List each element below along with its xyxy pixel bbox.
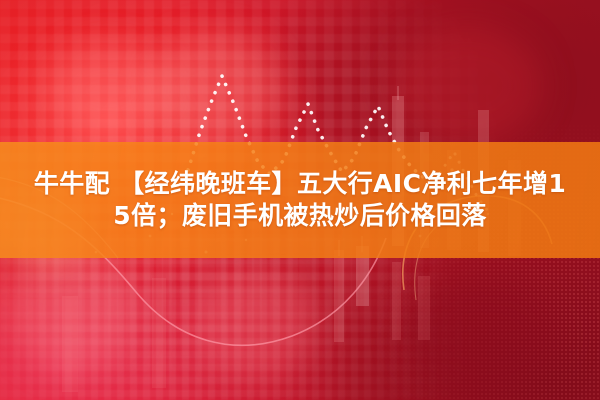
- news-banner-image: 牛牛配 【经纬晚班车】五大行AIC净利七年增1 5倍；废旧手机被热炒后价格回落: [0, 0, 600, 400]
- headline-line-1: 牛牛配 【经纬晚班车】五大行AIC净利七年增1: [34, 168, 566, 200]
- headline-line-2: 5倍；废旧手机被热炒后价格回落: [113, 200, 486, 232]
- headline-band: 牛牛配 【经纬晚班车】五大行AIC净利七年增1 5倍；废旧手机被热炒后价格回落: [0, 142, 600, 258]
